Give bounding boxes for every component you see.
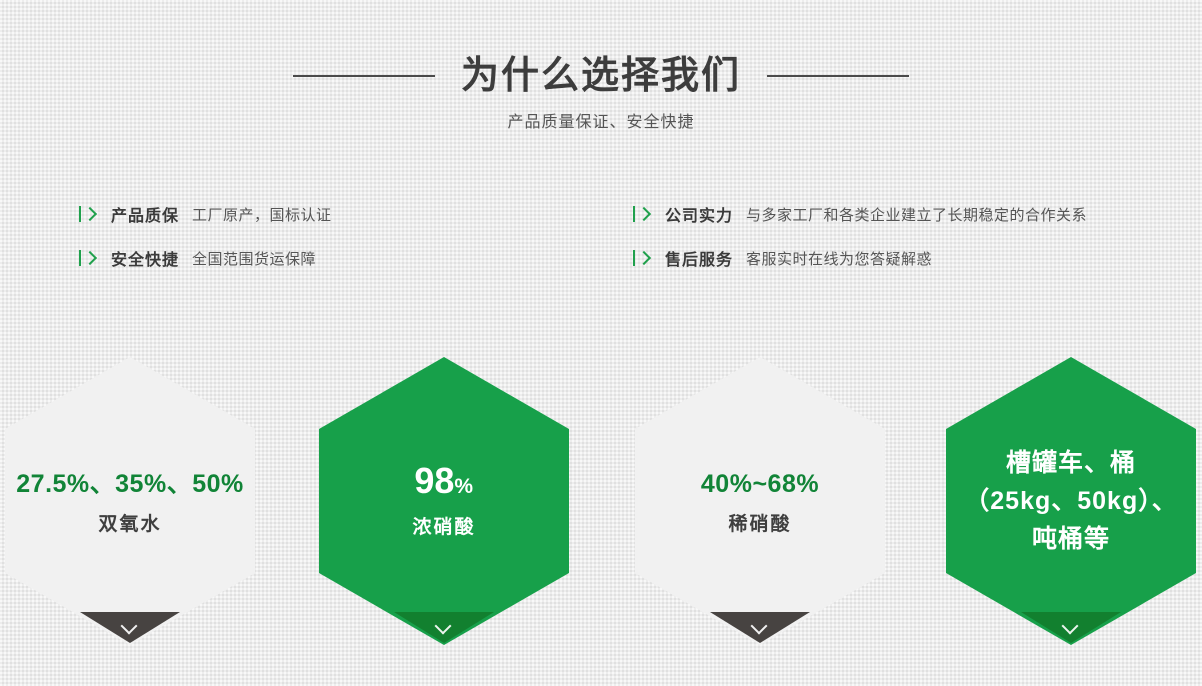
hexagon-label: 浓硝酸 [412,512,475,539]
hexagon-content: 槽罐车、桶（25kg、50kg）、吨桶等 [941,357,1201,645]
page-subtitle: 产品质量保证、安全快捷 [0,108,1202,132]
feature-desc: 工厂原产，国标认证 [192,204,332,225]
hexagon-value: 槽罐车、桶（25kg、50kg）、吨桶等 [961,444,1181,558]
feature-term: 安全快捷 [111,246,179,270]
chevron-right-bar-icon [78,206,98,222]
chevron-right-bar-icon [632,250,652,266]
title-row: 为什么选择我们 [0,50,1202,102]
hexagon-label: 双氧水 [98,509,161,536]
hexagon-content: 40%~68% 稀硝酸 [630,357,890,645]
feature-item: 售后服务 客服实时在线为您答疑解惑 [632,236,1192,280]
feature-desc: 全国范围货运保障 [192,248,316,269]
title-rule-right [767,75,909,77]
hexagon-card-concentrated-nitric-acid[interactable]: 98% 浓硝酸 [314,340,574,650]
feature-desc: 客服实时在线为您答疑解惑 [746,248,932,269]
chevron-right-bar-icon [632,206,652,222]
feature-term: 产品质保 [111,202,179,226]
hexagon-value: 40%~68% [701,467,819,501]
page-header: 为什么选择我们 产品质量保证、安全快捷 [0,0,1202,160]
feature-column-right: 公司实力 与多家工厂和各类企业建立了长期稳定的合作关系 售后服务 客服实时在线为… [632,192,1192,280]
feature-item: 公司实力 与多家工厂和各类企业建立了长期稳定的合作关系 [632,192,1192,236]
feature-column-left: 产品质保 工厂原产，国标认证 安全快捷 全国范围货运保障 [78,192,598,280]
hexagon-label: 稀硝酸 [728,509,791,536]
feature-list: 产品质保 工厂原产，国标认证 安全快捷 全国范围货运保障 公司实力 与多家工厂和… [0,192,1202,292]
hexagon-card-peroxide[interactable]: 27.5%、35%、50% 双氧水 [0,340,260,650]
title-rule-left [293,75,435,77]
chevron-down-icon [121,618,138,635]
feature-item: 安全快捷 全国范围货运保障 [78,236,598,280]
chevron-down-icon [1062,618,1079,635]
chevron-right-bar-icon [78,250,98,266]
feature-desc: 与多家工厂和各类企业建立了长期稳定的合作关系 [746,204,1087,225]
hexagon-value: 27.5%、35%、50% [16,467,243,501]
hexagon-value: 98% [414,464,473,504]
feature-item: 产品质保 工厂原产，国标认证 [78,192,598,236]
feature-term: 公司实力 [665,202,733,226]
hexagon-content: 27.5%、35%、50% 双氧水 [0,357,260,645]
hexagon-card-packaging[interactable]: 槽罐车、桶（25kg、50kg）、吨桶等 [941,340,1201,650]
feature-term: 售后服务 [665,246,733,270]
hexagon-card-dilute-nitric-acid[interactable]: 40%~68% 稀硝酸 [630,340,890,650]
hexagon-card-group: 27.5%、35%、50% 双氧水 98% 浓硝酸 40%~68% 稀硝酸 [0,340,1202,660]
hexagon-value-percent: % [454,475,473,498]
chevron-down-icon [751,618,768,635]
page-root: 为什么选择我们 产品质量保证、安全快捷 产品质保 工厂原产，国标认证 安全快捷 … [0,0,1202,686]
hexagon-value-number: 98 [414,460,454,501]
chevron-down-icon [435,618,452,635]
hexagon-content: 98% 浓硝酸 [314,357,574,645]
page-title: 为什么选择我们 [461,54,741,98]
